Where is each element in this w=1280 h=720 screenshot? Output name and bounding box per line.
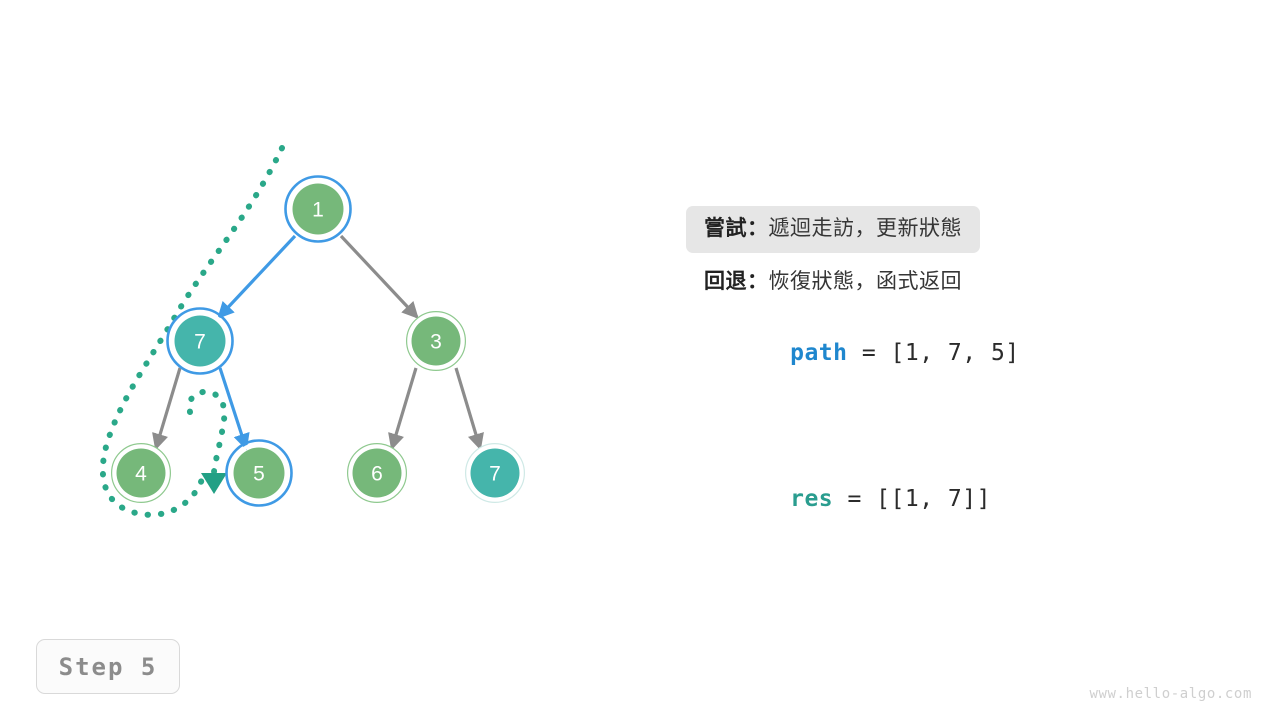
- tree-node-4[interactable]: 4: [112, 444, 170, 502]
- binary-tree-diagram: 1 7 3 4: [0, 0, 660, 720]
- tree-node-7-left[interactable]: 7: [168, 309, 233, 374]
- edge-1-to-3: [341, 236, 417, 317]
- backtrack-row: 回退：恢復狀態，函式返回: [686, 259, 980, 306]
- res-state-line: res = [[1, 7]]: [686, 454, 1206, 544]
- tree-node-label: 4: [135, 463, 147, 486]
- short-backtrack-loop: [189, 392, 224, 472]
- res-variable-value: = [[1, 7]]: [833, 486, 991, 512]
- panel-spacer: [686, 398, 1206, 454]
- try-label: 嘗試：: [704, 217, 769, 240]
- tree-node-6[interactable]: 6: [348, 444, 406, 502]
- edge-1-to-7: [219, 236, 295, 317]
- tree-node-label: 6: [371, 463, 383, 486]
- res-variable-name: res: [790, 486, 833, 512]
- path-variable-value: = [1, 7, 5]: [847, 340, 1019, 366]
- step-badge-label: Step 5: [59, 653, 158, 681]
- diagram-canvas: 1 7 3 4: [0, 0, 1280, 720]
- edge-3-to-6: [392, 368, 416, 448]
- tree-node-5[interactable]: 5: [227, 441, 292, 506]
- tree-node-1[interactable]: 1: [286, 177, 351, 242]
- explanation-panel: 嘗試：遞迴走訪，更新狀態 回退：恢復狀態，函式返回 path = [1, 7, …: [686, 206, 1206, 544]
- tree-nodes: 1 7 3 4: [112, 177, 524, 506]
- backtrack-arrowhead-icon: [201, 473, 227, 494]
- try-text: 遞迴走訪，更新狀態: [769, 217, 963, 240]
- tree-node-7-right[interactable]: 7: [466, 444, 524, 502]
- try-row: 嘗試：遞迴走訪，更新狀態: [686, 206, 980, 253]
- backtrack-text: 恢復狀態，函式返回: [769, 270, 963, 293]
- watermark: www.hello-algo.com: [1089, 686, 1252, 702]
- tree-node-label: 7: [194, 331, 206, 354]
- edge-7-to-4: [156, 368, 180, 448]
- path-state-line: path = [1, 7, 5]: [686, 308, 1206, 398]
- tree-node-label: 3: [430, 331, 442, 354]
- tree-node-3[interactable]: 3: [407, 312, 465, 370]
- tree-node-label: 5: [253, 463, 265, 486]
- step-badge: Step 5: [36, 639, 180, 694]
- tree-node-label: 1: [312, 199, 324, 222]
- path-variable-name: path: [790, 340, 847, 366]
- edge-3-to-7r: [456, 368, 480, 448]
- backtrack-label: 回退：: [704, 270, 769, 293]
- tree-node-label: 7: [489, 463, 501, 486]
